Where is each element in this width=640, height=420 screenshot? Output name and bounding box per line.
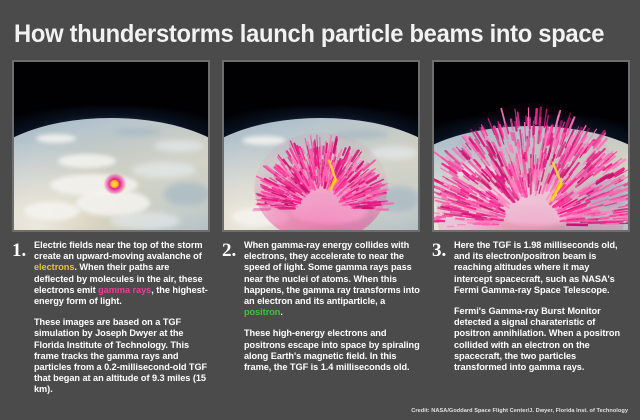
caption-paragraph: Fermi's Gamma-ray Burst Monitor detected… [454, 306, 630, 373]
scene-3 [434, 62, 628, 230]
caption-text-2: When gamma-ray energy collides with elec… [244, 240, 420, 373]
caption-run: . [280, 307, 283, 317]
highlight-term-electron: electrons [34, 262, 74, 272]
panel-image-1 [12, 60, 210, 232]
particle-beam-dome-2 [224, 62, 418, 230]
particle-beam-dome-3 [434, 62, 628, 230]
caption-block-2: 2. When gamma-ray energy collides with e… [222, 240, 420, 396]
cloud [24, 202, 80, 220]
caption-number-3: 3. [432, 240, 449, 260]
page-title: How thunderstorms launch particle beams … [14, 20, 604, 49]
caption-paragraph: These images are based on a TGF simulati… [34, 317, 210, 395]
caption-row: 1. Electric fields near the top of the s… [12, 240, 630, 396]
caption-run: Here the TGF is 1.98 milliseconds old, a… [454, 240, 618, 295]
caption-paragraph: These high-energy electrons and positron… [244, 328, 420, 373]
panel-image-3 [432, 60, 630, 232]
cloud [36, 134, 76, 143]
caption-text-1: Electric fields near the top of the stor… [34, 240, 210, 396]
caption-run: These high-energy electrons and positron… [244, 328, 420, 372]
credit-line: Credit: NASA/Goddard Space Flight Center… [411, 408, 628, 414]
highlight-term-positron: positron [244, 307, 280, 317]
panel-image-2 [222, 60, 420, 232]
highlight-term-gamma: gamma rays [98, 285, 151, 295]
caption-block-1: 1. Electric fields near the top of the s… [12, 240, 210, 396]
infographic-poster: How thunderstorms launch particle beams … [0, 0, 640, 420]
caption-paragraph: Electric fields near the top of the stor… [34, 240, 210, 307]
caption-block-3: 3. Here the TGF is 1.98 milliseconds old… [432, 240, 630, 396]
caption-paragraph: When gamma-ray energy collides with elec… [244, 240, 420, 318]
cloud [132, 162, 196, 178]
caption-number-1: 1. [12, 240, 29, 260]
cloud [58, 154, 116, 168]
cloud [164, 182, 208, 206]
caption-run: Electric fields near the top of the stor… [34, 240, 202, 261]
scene-2 [224, 62, 418, 230]
caption-run: When gamma-ray energy collides with elec… [244, 240, 420, 306]
panel-row [12, 60, 630, 232]
caption-run: Fermi's Gamma-ray Burst Monitor detected… [454, 306, 620, 372]
caption-text-3: Here the TGF is 1.98 milliseconds old, a… [454, 240, 630, 373]
caption-paragraph: Here the TGF is 1.98 milliseconds old, a… [454, 240, 630, 296]
cloud [154, 140, 204, 152]
cloud [110, 212, 180, 230]
caption-run: These images are based on a TGF simulati… [34, 317, 207, 394]
scene-1 [14, 62, 208, 230]
cloud [114, 128, 160, 136]
gamma-flash-core-1 [110, 180, 119, 188]
caption-number-2: 2. [222, 240, 239, 260]
